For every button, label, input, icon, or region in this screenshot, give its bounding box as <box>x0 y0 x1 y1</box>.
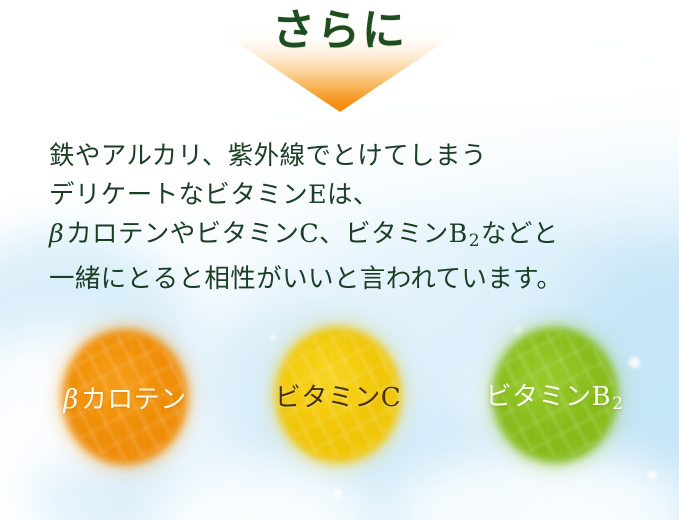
sparkle-highlight <box>629 357 640 368</box>
subscript-2: 2 <box>611 394 624 414</box>
body-line-3-tail: などと <box>481 219 559 249</box>
sparkle-highlight <box>270 335 276 341</box>
nutrient-label-vitamin-c: ビタミンC <box>275 377 401 414</box>
nutrient-label-beta-carotene: βカロテン <box>63 379 187 416</box>
nutrient-label-text: ビタミンC <box>275 383 401 413</box>
body-line-4: 一緒にとると相性がいいと言われています。 <box>49 260 649 299</box>
beta-glyph: β <box>49 219 66 249</box>
page-title: さらに <box>0 9 679 54</box>
body-line-1: 鉄やアルカリ、紫外線でとけてしまう <box>49 137 649 176</box>
body-line-3: βカロテンやビタミンC、ビタミンB2などと <box>49 215 649 260</box>
promo-banner: さらに 鉄やアルカリ、紫外線でとけてしまう デリケートなビタミンEは、 βカロテ… <box>0 0 679 520</box>
nutrient-label-vitamin-b2: ビタミンB2 <box>485 376 624 414</box>
nutrient-circle-beta-carotene: βカロテン <box>56 321 194 473</box>
nutrient-circle-vitamin-c: ビタミンC <box>269 319 407 471</box>
beta-glyph: β <box>63 385 81 415</box>
subscript-2: 2 <box>468 230 481 250</box>
nutrient-label-text: ビタミンB <box>485 382 611 412</box>
body-paragraph: 鉄やアルカリ、紫外線でとけてしまう デリケートなビタミンEは、 βカロテンやビタ… <box>49 137 649 299</box>
sparkle-highlight <box>648 471 656 479</box>
body-line-3-text: カロテンやビタミンC、ビタミンB <box>66 219 468 249</box>
nutrient-label-text: カロテン <box>81 385 187 415</box>
nutrient-circle-vitamin-b2: ビタミンB2 <box>486 319 624 471</box>
body-line-2: デリケートなビタミンEは、 <box>49 176 649 215</box>
sparkle-highlight <box>333 489 342 498</box>
